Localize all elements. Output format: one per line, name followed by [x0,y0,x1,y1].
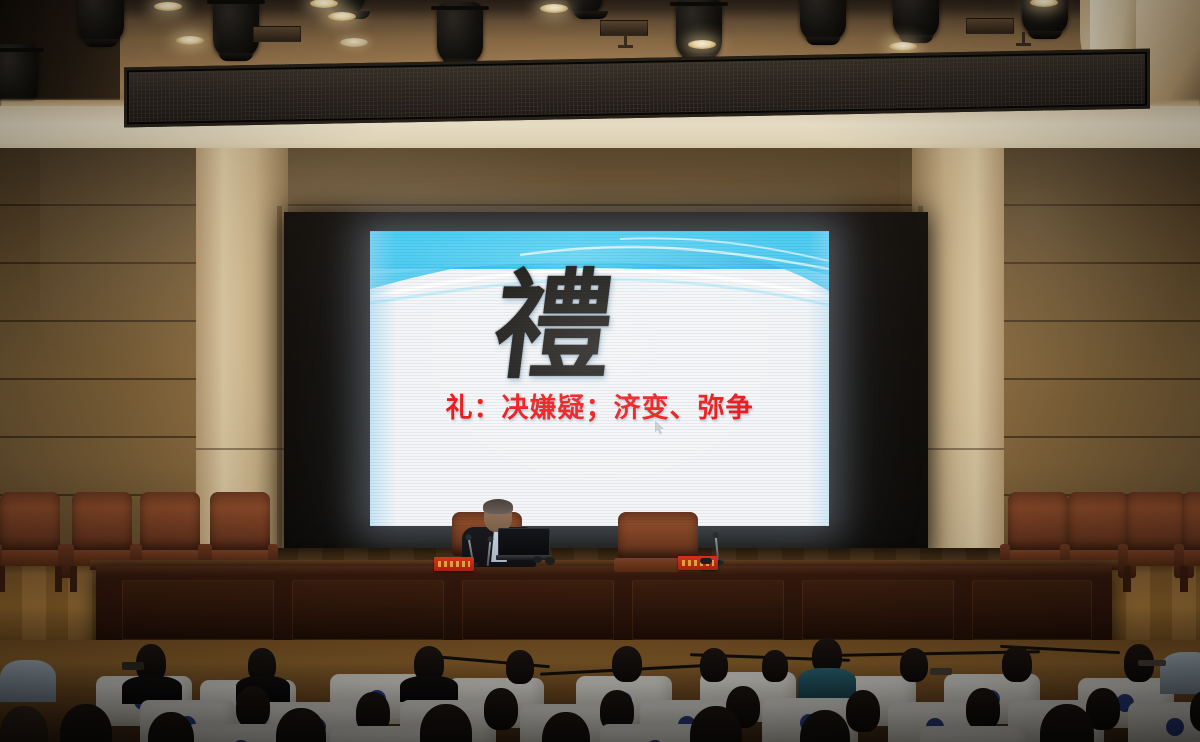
downlight-icon [154,2,182,11]
chair-back [0,492,60,554]
mouse-pointer-icon [655,421,665,435]
dais-panel [122,580,274,640]
chair-leg [1180,566,1187,592]
audience-person-head [236,686,270,728]
stage-spotlight-icon [0,44,38,106]
chair-seat [0,550,66,566]
chair-leg [70,566,77,592]
audience-person-head [966,688,1000,730]
downlight-icon [176,36,204,45]
dais-panel [972,580,1092,640]
stage-spotlight-icon [437,2,483,64]
desk-object [700,558,712,564]
stage-spotlight-icon [893,0,939,40]
chair-back [1182,492,1200,554]
stage-chair [1176,492,1200,588]
dais-panel [462,580,614,640]
stage-spotlight-icon [800,0,846,42]
downlight-icon [889,42,917,51]
audience-person-head [846,690,880,732]
audience-person-shoulders [0,660,56,702]
audience-person-shoulders [798,668,856,698]
floor-object [1138,660,1166,666]
sprinkler-icon [624,34,627,47]
laptop-icon [496,528,550,560]
ceiling-vent-icon [966,18,1014,34]
chair-leg [55,566,62,592]
stage-spotlight-icon [676,0,722,60]
auditorium-scene: 禮 礼：决嫌疑；济变、弥争 [0,0,1200,742]
audience-seat [920,726,1030,742]
floor-object [122,662,144,670]
seat-badge [1166,718,1184,736]
downlight-icon [540,4,568,13]
sprinkler-icon [1022,32,1025,45]
audience-person-head [700,648,728,682]
nameplate-text [438,561,470,567]
audience-person-shoulders [400,676,458,702]
pilaster-left [196,148,288,548]
dais-panel [632,580,784,640]
chair-back [1008,492,1068,554]
stage-spotlight-icon [78,0,124,44]
pilaster-edge [277,206,282,548]
chair-back [140,492,200,554]
stage-spotlight-icon [568,0,602,16]
desk-object [545,557,555,565]
nameplate-left [434,557,474,571]
nameplate-right [678,556,718,570]
chair-back [618,512,698,560]
chair-leg [0,566,5,592]
floor-object [930,668,952,675]
slide-calligraphy-character: 禮 [370,267,790,385]
audience-person-head [484,688,518,730]
chair-back [210,492,270,554]
dais-panel [292,580,444,640]
pilaster-seam [196,448,288,450]
downlight-icon [328,12,356,21]
stage-chair [0,492,66,588]
downlight-icon [340,38,368,47]
audience-person-head [900,648,928,682]
audience-person-head [1002,646,1032,682]
speaker-hair [483,499,513,514]
audience-person-shoulders [1160,652,1200,694]
seat-cover [920,726,1030,742]
chair-leg [1124,566,1131,592]
slide-headline: 礼：决嫌疑；济变、弥争 [370,392,829,426]
audience-person-head [762,650,788,682]
downlight-icon [688,40,716,49]
audience-person-head [612,646,642,682]
presentation-slide[interactable]: 禮 礼：决嫌疑；济变、弥争 [370,231,829,526]
laptop-screen [498,528,550,558]
desk-object [533,556,542,563]
ceiling-vent-icon [253,26,301,42]
chair-back [72,492,132,554]
dais-panel [802,580,954,640]
audience-person-head [506,650,534,684]
